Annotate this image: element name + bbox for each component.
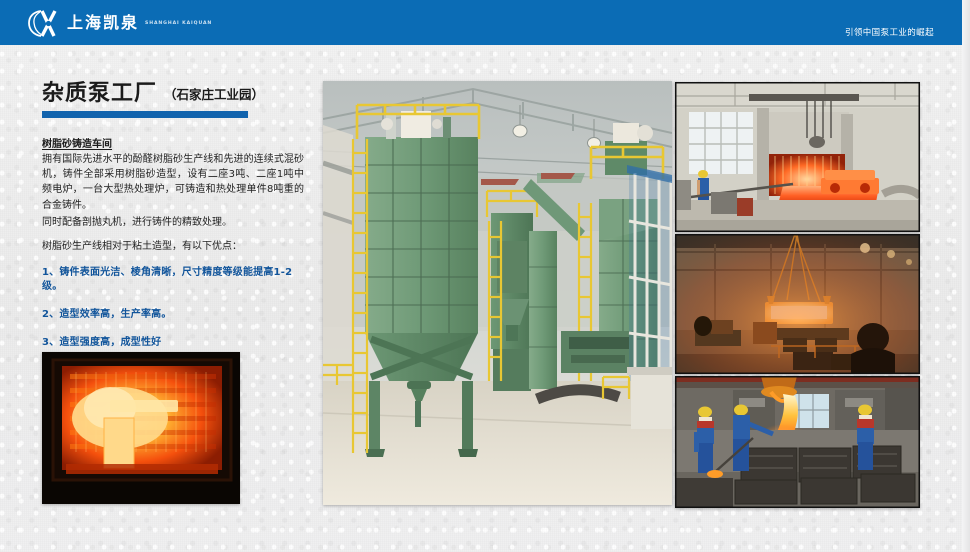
photo-crane-hot: [675, 234, 920, 374]
photo-furnace-closeup: [42, 352, 240, 504]
page-title: 杂质泵工厂 （石家庄工业园）: [42, 82, 304, 105]
page-title-subtitle: （石家庄工业园）: [164, 84, 264, 105]
page-title-main: 杂质泵工厂: [42, 82, 157, 105]
text-column: 杂质泵工厂 （石家庄工业园） 树脂砂铸造车间 拥有国际先进水平的酚醛树脂砂生产线…: [42, 82, 304, 392]
body-paragraph-3: 树脂砂生产线相对于粘土造型，有以下优点：: [42, 239, 304, 254]
list-item: 2、造型效率高，生产率高。: [42, 308, 304, 322]
kaiquan-pump-logo-icon: [28, 8, 62, 38]
list-item: 3、造型强度高，成型性好: [42, 336, 304, 350]
body-paragraph-2: 同时配备剖抛丸机，进行铸件的精致处理。: [42, 215, 304, 230]
section-heading: 树脂砂铸造车间: [42, 135, 304, 150]
logo-english-name: SHANGHAI KAIQUAN: [145, 22, 212, 27]
brand-logo[interactable]: 上海凯泉 SHANGHAI KAIQUAN: [28, 8, 212, 38]
title-underline-bar: [42, 111, 248, 118]
slide-canvas: 上海凯泉 SHANGHAI KAIQUAN 引领中国泵工业的崛起 杂质泵工厂 （…: [0, 0, 970, 552]
body-paragraph-1: 拥有国际先进水平的酚醛树脂砂生产线和先进的连续式混砂机，铸件全部采用树脂砂造型，…: [42, 152, 304, 213]
header-tagline: 引领中国泵工业的崛起: [845, 26, 934, 38]
photo-furnace-load: [675, 82, 920, 232]
page-header: 上海凯泉 SHANGHAI KAIQUAN 引领中国泵工业的崛起: [0, 0, 962, 45]
list-item: 1、铸件表面光洁、棱角清晰，尺寸精度等级能提高1-2级。: [42, 266, 304, 294]
logo-chinese-name: 上海凯泉: [67, 15, 139, 31]
photo-sand-plant: [323, 81, 672, 505]
photo-pouring: [675, 376, 920, 508]
